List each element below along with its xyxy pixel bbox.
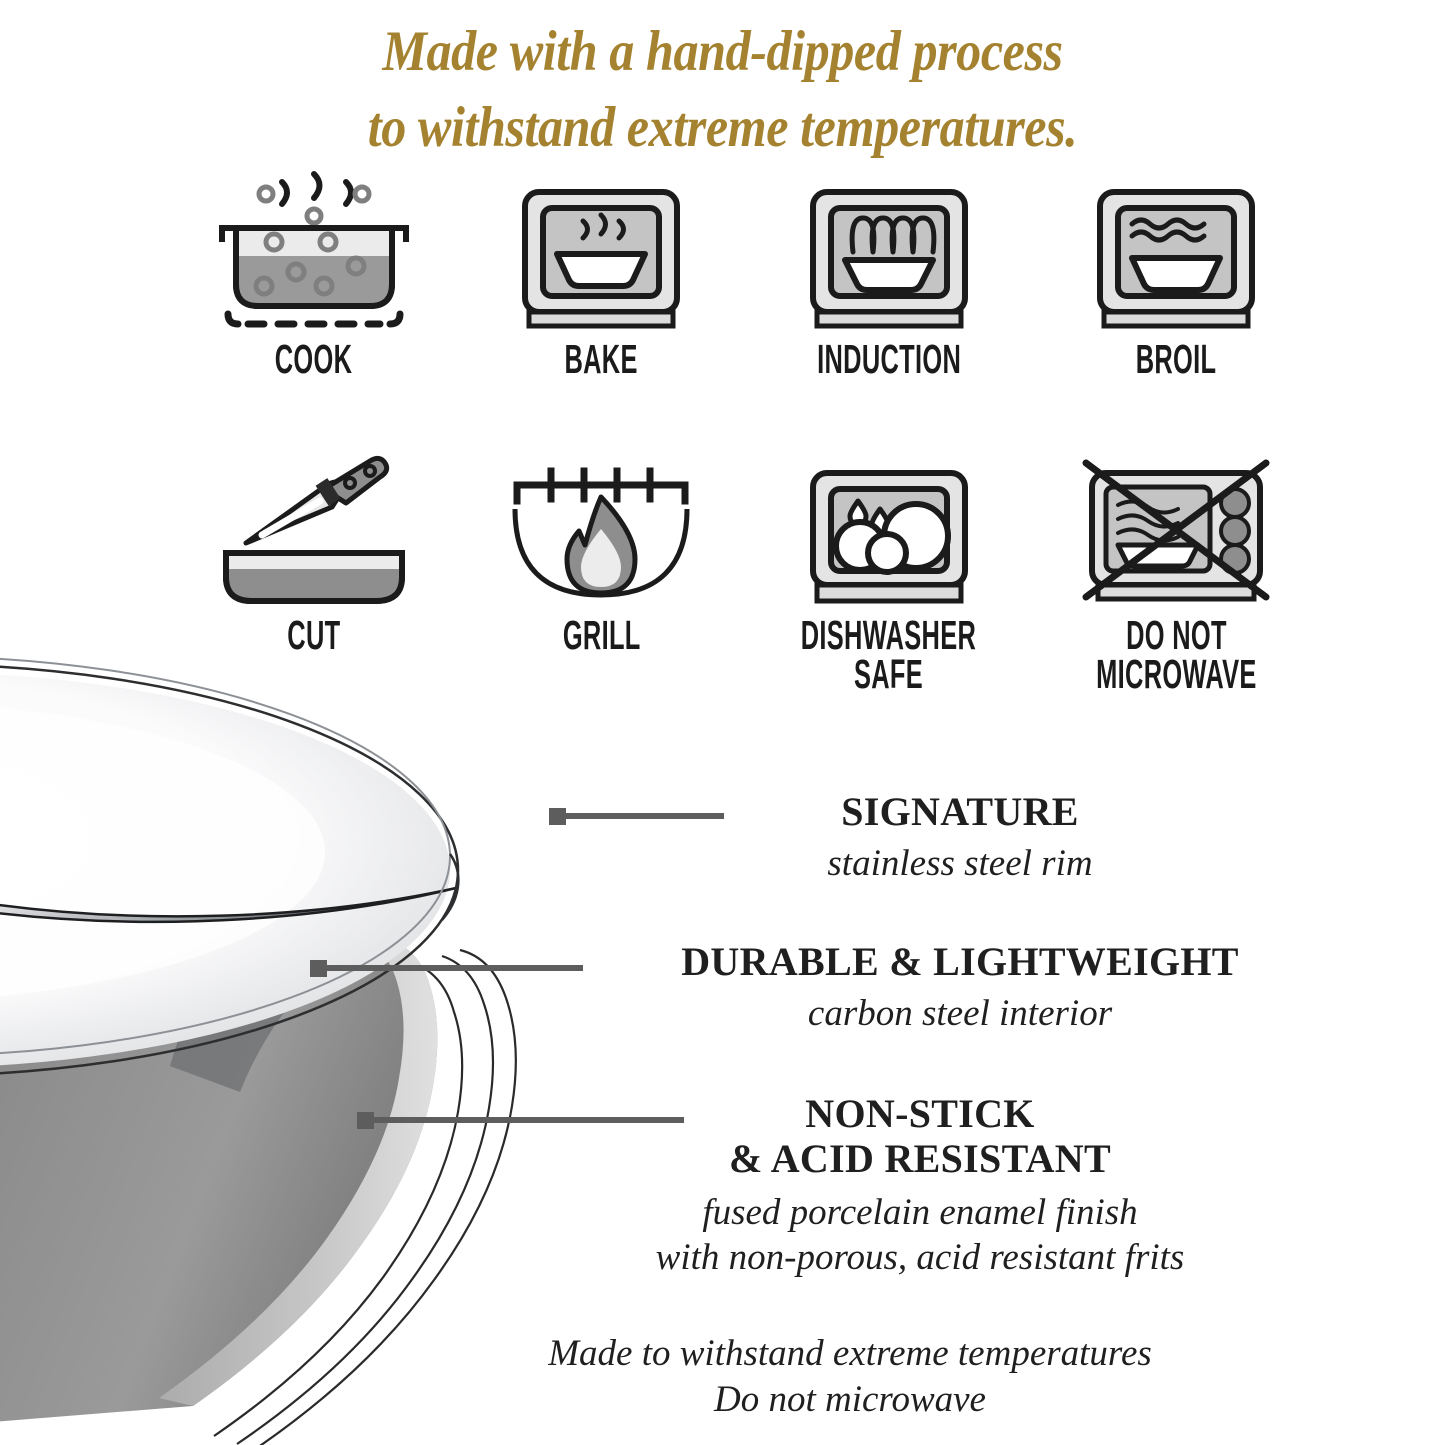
- callout-durable-subtitle: carbon steel interior: [500, 991, 1420, 1036]
- icon-cell-bake: BAKE: [458, 176, 746, 379]
- footer-line-1: Made to withstand extreme temperatures: [320, 1331, 1380, 1377]
- icon-cell-induction: INDUCTION: [745, 176, 1033, 379]
- callout-signature-title: SIGNATURE: [600, 790, 1320, 835]
- feature-icon-grid: COOK: [170, 176, 1320, 694]
- headline-line-1: Made with a hand-dipped process: [382, 20, 1062, 83]
- icon-label-cook: COOK: [275, 340, 353, 379]
- knife-cut-icon: [204, 457, 424, 612]
- icon-label-broil: BROIL: [1136, 340, 1217, 379]
- icon-cell-cook: COOK: [170, 176, 458, 379]
- icon-cell-broil: BROIL: [1033, 176, 1321, 379]
- callout-signature: SIGNATURE stainless steel rim: [600, 790, 1320, 886]
- page-title: Made with a hand-dipped process to withs…: [87, 14, 1359, 166]
- icon-cell-no-microwave: DO NOT MICROWAVE: [1033, 457, 1321, 694]
- callout-nonstick: NON-STICK & ACID RESISTANT fused porcela…: [420, 1092, 1420, 1280]
- oven-broil-icon: [1066, 176, 1286, 336]
- callout-signature-subtitle: stainless steel rim: [600, 841, 1320, 886]
- footer-note: Made to withstand extreme temperatures D…: [320, 1331, 1380, 1424]
- headline-line-2: to withstand extreme temperatures.: [87, 90, 1359, 166]
- icon-row-1: COOK: [170, 176, 1320, 379]
- callout-durable: DURABLE & LIGHTWEIGHT carbon steel inter…: [500, 940, 1420, 1036]
- induction-coil-icon: [779, 176, 999, 336]
- dishwasher-icon: [779, 457, 999, 612]
- icon-cell-dishwasher: DISHWASHER SAFE: [745, 457, 1033, 694]
- no-microwave-icon: [1066, 457, 1286, 612]
- callout-nonstick-title: NON-STICK & ACID RESISTANT: [420, 1092, 1420, 1182]
- oven-bake-icon: [491, 176, 711, 336]
- icon-label-bake: BAKE: [565, 340, 638, 379]
- callout-durable-title: DURABLE & LIGHTWEIGHT: [500, 940, 1420, 985]
- icon-label-no-microwave: DO NOT MICROWAVE: [1096, 616, 1256, 694]
- icon-label-dishwasher: DISHWASHER SAFE: [801, 616, 976, 694]
- pot-boiling-icon: [204, 176, 424, 336]
- icon-label-induction: INDUCTION: [817, 340, 961, 379]
- callout-nonstick-subtitle: fused porcelain enamel finish with non-p…: [420, 1190, 1420, 1280]
- footer-line-2: Do not microwave: [320, 1377, 1380, 1423]
- grill-flame-icon: [491, 457, 711, 612]
- product-feature-infographic: Made with a hand-dipped process to withs…: [0, 0, 1445, 1445]
